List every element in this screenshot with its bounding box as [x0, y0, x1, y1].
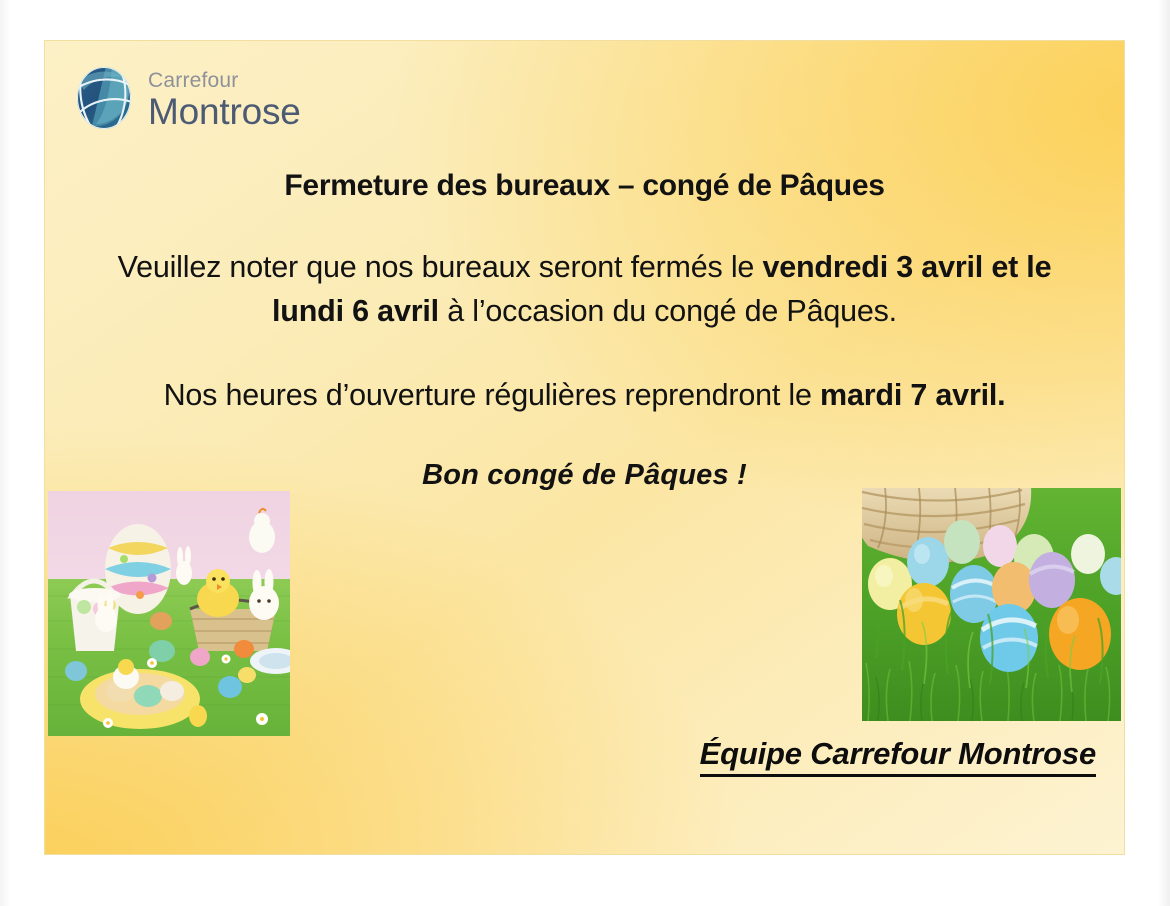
- brand-name-top: Carrefour: [148, 70, 301, 91]
- brand-wordmark: Carrefour Montrose: [148, 66, 301, 130]
- page-title: Fermeture des bureaux – congé de Pâques: [67, 169, 1102, 203]
- notice-card: Carrefour Montrose Fermeture des bureaux…: [44, 40, 1125, 855]
- signature-line: Équipe Carrefour Montrose: [700, 736, 1096, 777]
- paragraph-1-tail: à l’occasion du congé de Pâques.: [439, 294, 897, 328]
- paragraph-2-lead: Nos heures d’ouverture régulières repren…: [164, 378, 820, 412]
- paragraph-1-lead: Veuillez noter que nos bureaux seront fe…: [118, 250, 763, 284]
- paragraph-reopening: Nos heures d’ouverture régulières repren…: [67, 373, 1102, 417]
- paragraph-2-emphasis: mardi 7 avril.: [820, 378, 1005, 412]
- brand-name-bottom: Montrose: [148, 93, 301, 130]
- paragraph-closure-dates: Veuillez noter que nos bureaux seront fe…: [67, 245, 1102, 333]
- easter-scene-photo: [48, 491, 290, 736]
- easter-eggs-basket-illustration: [862, 488, 1121, 721]
- easter-scene-illustration: [48, 491, 290, 736]
- brand-logo[interactable]: Carrefour Montrose: [72, 64, 301, 132]
- easter-eggs-basket-photo: [862, 488, 1121, 721]
- carrefour-montrose-globe-icon: [72, 64, 136, 132]
- notice-body: Fermeture des bureaux – congé de Pâques …: [45, 169, 1124, 521]
